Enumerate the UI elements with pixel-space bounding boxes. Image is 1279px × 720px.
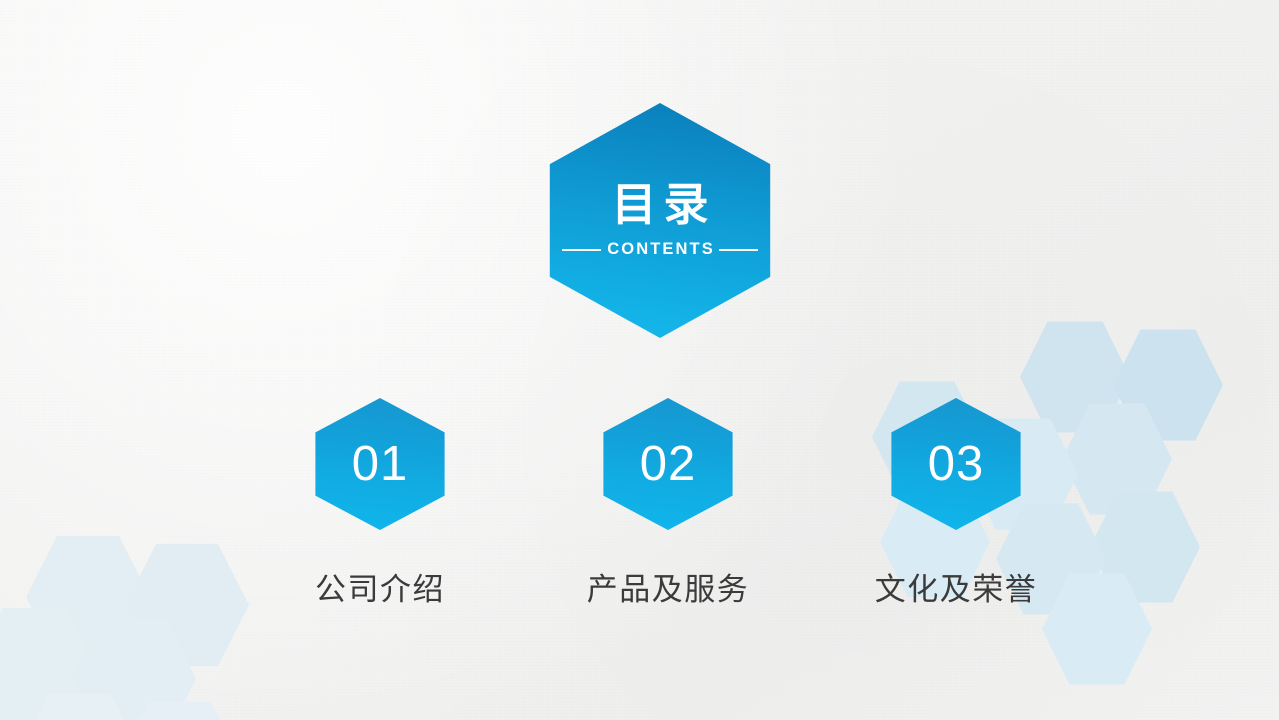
toc-number-02: 02 xyxy=(640,440,697,489)
deco-hexagon xyxy=(125,540,249,670)
rule-right xyxy=(719,249,758,251)
deco-hexagon xyxy=(18,690,142,720)
deco-hexagon xyxy=(72,614,196,720)
deco-hexagon xyxy=(26,532,150,662)
toc-label-03: 文化及荣誉 xyxy=(875,564,1038,609)
deco-hexagon xyxy=(1062,400,1172,518)
contents-hexagon[interactable]: 目录 CONTENTS xyxy=(544,103,776,338)
toc-item-01[interactable]: 01 公司介绍 xyxy=(280,398,480,609)
toc-label-02: 产品及服务 xyxy=(587,564,750,609)
deco-hexagon xyxy=(1090,488,1200,606)
toc-label-01: 公司介绍 xyxy=(315,564,445,609)
toc-number-01: 01 xyxy=(352,440,409,489)
honeycomb-cluster-right xyxy=(0,0,1279,720)
deco-hexagon xyxy=(118,698,242,720)
deco-hexagon xyxy=(1042,570,1152,688)
toc-number-hexagon-01[interactable]: 01 xyxy=(312,398,448,530)
toc-number-03: 03 xyxy=(928,440,985,489)
slide-canvas: 目录 CONTENTS 01 公司介绍 02 产品及服务 03 文化及荣誉 xyxy=(0,0,1279,720)
deco-hexagon xyxy=(1113,326,1223,444)
toc-number-hexagon-03[interactable]: 03 xyxy=(888,398,1024,530)
contents-title-en: CONTENTS xyxy=(601,240,719,259)
deco-hexagon xyxy=(0,604,96,720)
contents-subtitle-row: CONTENTS xyxy=(562,240,758,259)
contents-title-cn: 目录 xyxy=(604,182,715,227)
honeycomb-cluster-bottom-left xyxy=(0,0,1279,720)
toc-item-03[interactable]: 03 文化及荣誉 xyxy=(856,398,1056,609)
toc-item-02[interactable]: 02 产品及服务 xyxy=(568,398,768,609)
toc-number-hexagon-02[interactable]: 02 xyxy=(600,398,736,530)
rule-left xyxy=(562,249,601,251)
paper-texture xyxy=(0,0,1279,720)
